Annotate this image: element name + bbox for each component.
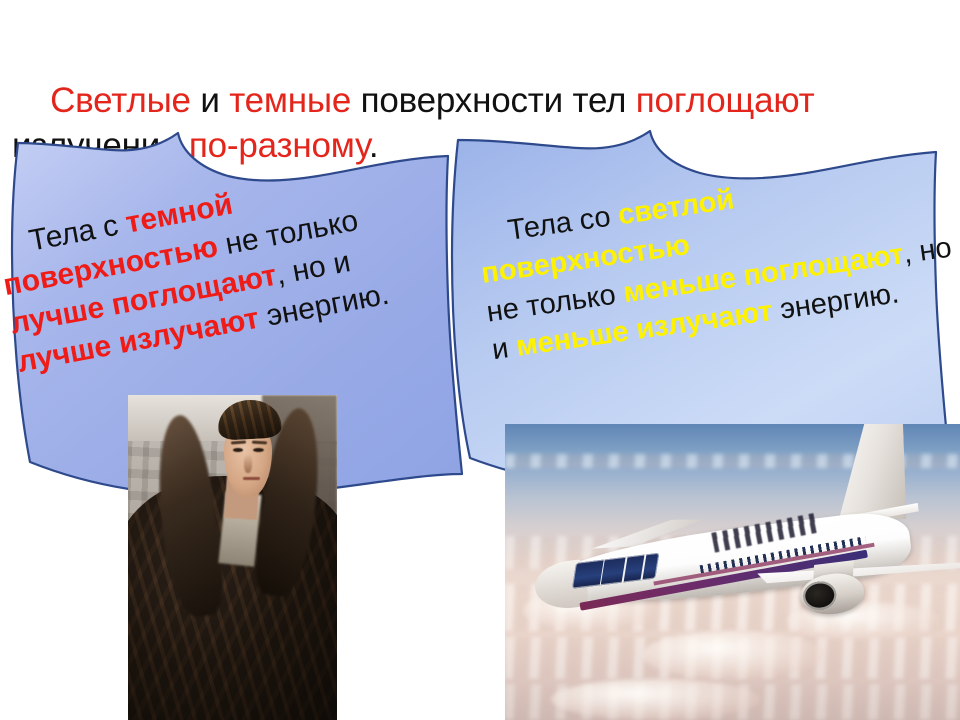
mouth	[243, 477, 260, 480]
photo-white-airliner	[505, 424, 960, 720]
nose	[244, 454, 252, 474]
title-segment-pogloshchayut: поглощают	[636, 81, 815, 120]
title-segment-i: и	[191, 81, 229, 120]
cloud-puff	[551, 679, 760, 720]
eye-right	[253, 448, 264, 452]
title-segment-temnye: темные	[229, 81, 351, 120]
title-segment-svetlye: Светлые	[50, 81, 191, 120]
slide-canvas: Светлые и темные поверхности тел поглоща…	[0, 0, 960, 720]
eyebrow-right	[252, 440, 267, 444]
engine-intake	[802, 579, 839, 612]
photo-man-in-dark-fur-coat	[128, 395, 337, 720]
